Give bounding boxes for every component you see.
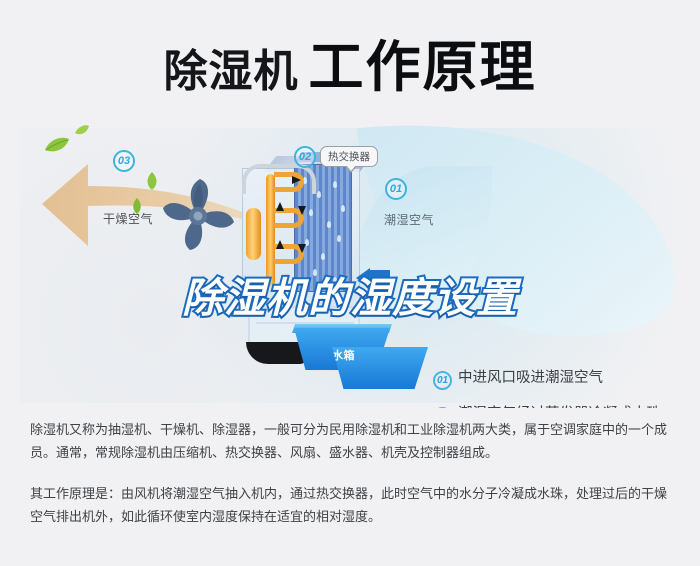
step-text: 潮湿空气经过蒸发器冷凝成水珠: [458, 406, 661, 408]
page-title-main: 工作原理: [308, 36, 536, 98]
list-item: 02 潮湿空气经过蒸发器冷凝成水珠: [433, 406, 683, 408]
step-number: 02: [433, 407, 452, 408]
heat-exchanger-callout: 热交换器: [320, 146, 378, 167]
overlay-caption: 除湿机的湿度设置: [0, 264, 700, 324]
unit-base: [246, 342, 308, 364]
diagram-marker-03: 03: [113, 150, 135, 172]
page-title-prefix: 除湿机: [163, 47, 298, 96]
label-humid-air: 潮湿空气: [384, 211, 434, 228]
step-text: 中进风口吸进潮湿空气: [458, 370, 603, 387]
article-body: 除湿机又称为抽湿机、干燥机、除湿器，一般可分为民用除湿机和工业除湿机两大类，属于…: [30, 418, 675, 528]
process-step-list: 01 中进风口吸进潮湿空气 02 潮湿空气经过蒸发器冷凝成水珠 03 从上部出风…: [433, 370, 683, 408]
paragraph-2: 其工作原理是：由风机将潮湿空气抽入机内，通过热交换器，此时空气中的水分子冷凝成水…: [30, 482, 675, 528]
dehumidifier-diagram: 03 02 01 热交换器 干燥空气 潮湿空气 水箱 01 中进风口吸进潮湿空气…: [0, 118, 700, 408]
leaf-icon: [74, 124, 90, 136]
label-dry-air: 干燥空气: [103, 210, 153, 227]
compressor-cylinder: [246, 208, 261, 260]
fan-icon: [152, 170, 244, 262]
infographic-page: 除湿机工作原理: [0, 0, 700, 566]
leaf-icon: [44, 136, 70, 154]
diagram-marker-01: 01: [385, 178, 407, 200]
step-number: 01: [433, 371, 452, 390]
paragraph-1: 除湿机又称为抽湿机、干燥机、除湿器，一般可分为民用除湿机和工业除湿机两大类，属于…: [30, 418, 675, 464]
list-item: 01 中进风口吸进潮湿空气: [433, 370, 683, 390]
diagram-marker-02: 02: [294, 146, 316, 168]
page-title: 除湿机工作原理: [0, 22, 700, 102]
label-water-tank: 水箱: [332, 347, 428, 389]
